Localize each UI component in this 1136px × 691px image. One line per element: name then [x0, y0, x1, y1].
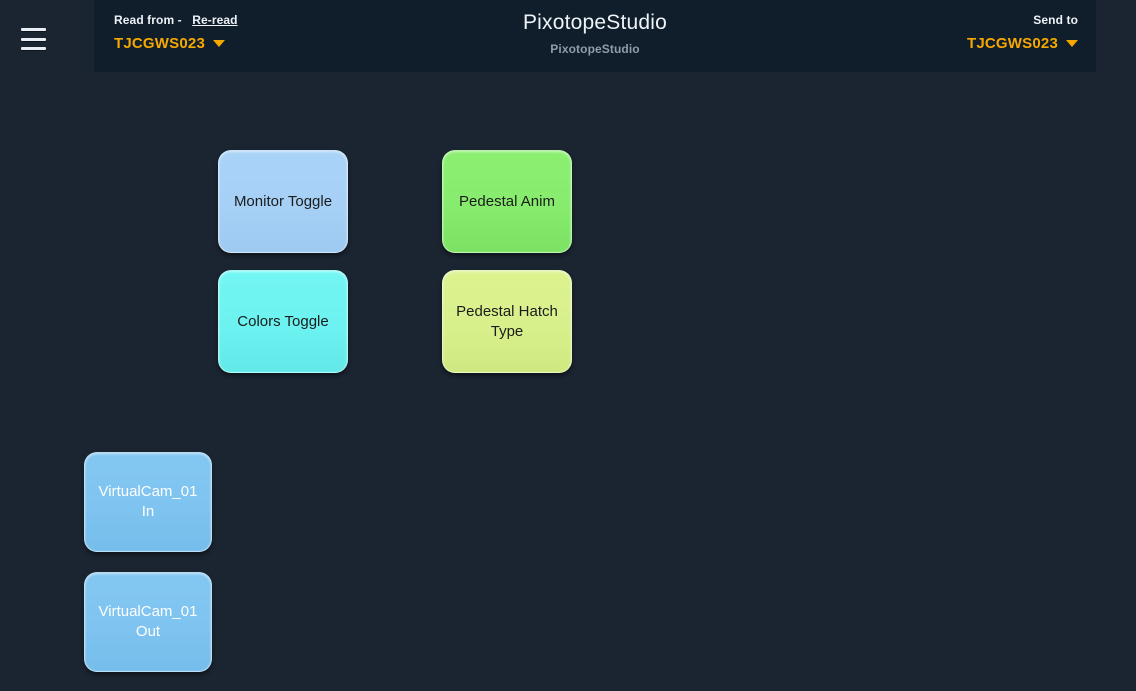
send-to-label: Send to: [967, 13, 1078, 27]
hamburger-bar-2: [21, 38, 46, 41]
send-to-group: Send to TJCGWS023: [967, 13, 1078, 52]
send-to-value: TJCGWS023: [967, 35, 1058, 52]
read-from-value: TJCGWS023: [114, 35, 205, 52]
read-from-label: Read from -: [114, 13, 182, 27]
read-from-group: Read from - Re-read TJCGWS023: [114, 13, 238, 52]
button-monitor-toggle[interactable]: Monitor Toggle: [218, 150, 348, 253]
page-subtitle: PixotopeStudio: [94, 42, 1096, 56]
hamburger-bar-1: [21, 28, 46, 31]
send-to-dropdown[interactable]: TJCGWS023: [967, 35, 1078, 52]
re-read-link[interactable]: Re-read: [192, 13, 237, 27]
button-virtualcam-01-in[interactable]: VirtualCam_01 In: [84, 452, 212, 552]
read-from-row: Read from - Re-read: [114, 13, 238, 27]
page-title: PixotopeStudio: [94, 11, 1096, 35]
button-virtualcam-01-out[interactable]: VirtualCam_01 Out: [84, 572, 212, 672]
header-bar: Read from - Re-read TJCGWS023 PixotopeSt…: [94, 0, 1096, 72]
chevron-down-icon: [1066, 40, 1078, 47]
chevron-down-icon: [213, 40, 225, 47]
button-pedestal-hatch-type[interactable]: Pedestal Hatch Type: [442, 270, 572, 373]
button-pedestal-anim[interactable]: Pedestal Anim: [442, 150, 572, 253]
hamburger-bar-3: [21, 47, 46, 50]
header-title-group: PixotopeStudio PixotopeStudio: [94, 11, 1096, 56]
hamburger-menu-icon[interactable]: [21, 28, 46, 50]
button-colors-toggle[interactable]: Colors Toggle: [218, 270, 348, 373]
read-from-dropdown[interactable]: TJCGWS023: [114, 35, 238, 52]
